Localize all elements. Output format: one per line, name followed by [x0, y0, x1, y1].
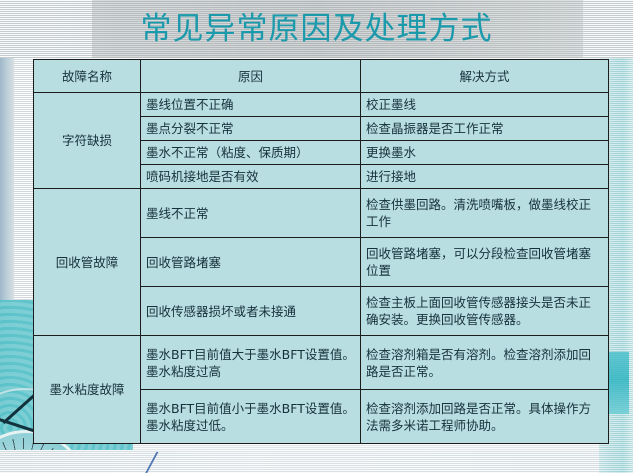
- column-header-solution: 解决方式: [361, 60, 609, 93]
- table-body: 字符缺损 墨线位置不正确 校正墨线 墨点分裂不正常 检查晶振器是否工作正常 墨水…: [34, 93, 609, 444]
- bottom-texture-band: [0, 450, 633, 473]
- diagonal-line-decoration: [144, 452, 229, 473]
- solution-cell: 检查溶剂添加回路是否正常。具体操作方法需多米诺工程师协助。: [361, 390, 609, 444]
- column-header-cause: 原因: [141, 60, 361, 93]
- page-title: 常见异常原因及处理方式: [0, 8, 633, 50]
- solution-cell: 进行接地: [361, 165, 609, 189]
- table-header-row: 故障名称 原因 解决方式: [34, 60, 609, 93]
- cause-cell: 墨线位置不正确: [141, 93, 361, 117]
- cause-cell: 墨水不正常（粘度、保质期）: [141, 141, 361, 165]
- cause-cell: 墨水BFT目前值小于墨水BFT设置值。墨水粘度过低。: [141, 390, 361, 444]
- cause-cell: 回收传感器损坏或者未接通: [141, 287, 361, 336]
- table-row: 墨水粘度故障 墨水BFT目前值大于墨水BFT设置值。墨水粘度过高 检查溶剂箱是否…: [34, 336, 609, 390]
- cause-cell: 喷码机接地是否有效: [141, 165, 361, 189]
- solution-cell: 校正墨线: [361, 93, 609, 117]
- solution-cell: 检查主板上面回收管传感器接头是否未正确安装。更换回收管传感器。: [361, 287, 609, 336]
- solution-cell: 检查晶振器是否工作正常: [361, 117, 609, 141]
- fault-name-cell: 墨水粘度故障: [34, 336, 141, 444]
- solution-cell: 更换墨水: [361, 141, 609, 165]
- cause-cell: 墨水BFT目前值大于墨水BFT设置值。墨水粘度过高: [141, 336, 361, 390]
- fault-table-container: 故障名称 原因 解决方式 字符缺损 墨线位置不正确 校正墨线 墨点分裂不正常 检…: [33, 59, 608, 444]
- solution-cell: 检查溶剂箱是否有溶剂。检查溶剂添加回路是否正常。: [361, 336, 609, 390]
- solution-cell: 检查供墨回路。清洗喷嘴板，做墨线校正工作: [361, 189, 609, 238]
- column-header-fault-name: 故障名称: [34, 60, 141, 93]
- solution-cell: 回收管路堵塞，可以分段检查回收管堵塞位置: [361, 238, 609, 287]
- fault-name-cell: 字符缺损: [34, 93, 141, 189]
- cause-cell: 墨线不正常: [141, 189, 361, 238]
- table-row: 回收管故障 墨线不正常 检查供墨回路。清洗喷嘴板，做墨线校正工作: [34, 189, 609, 238]
- fault-name-cell: 回收管故障: [34, 189, 141, 336]
- cause-cell: 墨点分裂不正常: [141, 117, 361, 141]
- table-row: 字符缺损 墨线位置不正确 校正墨线: [34, 93, 609, 117]
- presentation-slide: 常见异常原因及处理方式 故障名称 原因 解决方式 字符缺损 墨线位置不正确 校正…: [0, 0, 633, 473]
- cause-cell: 回收管路堵塞: [141, 238, 361, 287]
- fault-table: 故障名称 原因 解决方式 字符缺损 墨线位置不正确 校正墨线 墨点分裂不正常 检…: [33, 59, 609, 444]
